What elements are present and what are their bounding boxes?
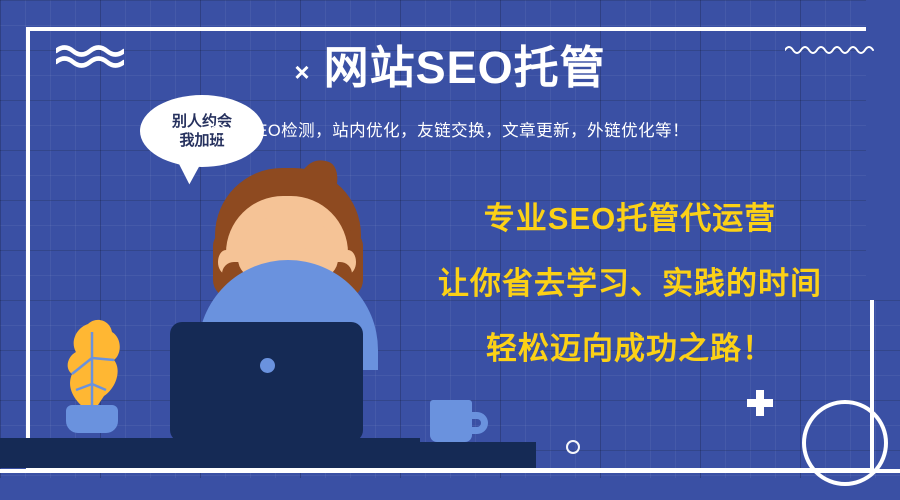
laptop-logo [260,358,275,373]
slogan-line-3: 轻松迈向成功之路！ [395,323,865,368]
circle-outline-icon [566,440,580,454]
coffee-mug-handle [468,412,488,434]
slogan-line-2: 让你省去学习、实践的时间 [395,258,865,303]
corner-circle-icon [802,400,888,486]
plant-pot [66,405,118,433]
seo-banner: 别人约会 我加班 × 网站SEO托管 含：SEO检测，站内优化，友链交换，文章更… [0,0,900,500]
coffee-mug [430,400,472,442]
headline-row: × 网站SEO托管 [0,45,900,90]
cross-icon: × [294,59,309,85]
laptop [170,322,363,442]
slogan-line-1: 专业SEO托管代运营 [395,193,865,238]
page-title: 网站SEO托管 [324,45,606,90]
slogan-block: 专业SEO托管代运营 让你省去学习、实践的时间 轻松迈向成功之路！ [395,193,865,368]
page-subtitle: 含：SEO检测，站内优化，友链交换，文章更新，外链优化等！ [0,117,900,141]
plus-icon [747,390,773,416]
floor-line [0,469,900,473]
plant-leaf-icon [58,318,128,414]
desk [0,442,536,468]
